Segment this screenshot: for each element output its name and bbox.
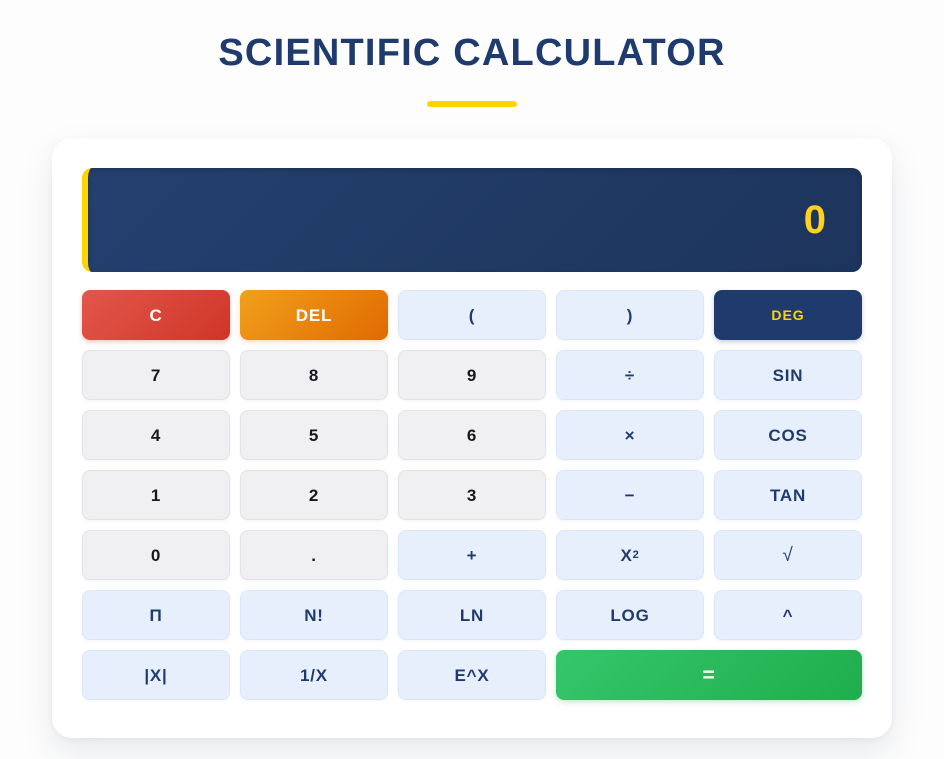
key-reciprocal[interactable]: 1/X bbox=[240, 650, 388, 700]
key-tan[interactable]: TAN bbox=[714, 470, 862, 520]
key-cos[interactable]: COS bbox=[714, 410, 862, 460]
key-square-root[interactable]: √ bbox=[714, 530, 862, 580]
calculator-display: 0 bbox=[82, 168, 862, 272]
key-divide[interactable]: ÷ bbox=[556, 350, 704, 400]
key-absolute[interactable]: |X| bbox=[82, 650, 230, 700]
key-clear[interactable]: C bbox=[82, 290, 230, 340]
key-3[interactable]: 3 bbox=[398, 470, 546, 520]
key-subtract[interactable]: − bbox=[556, 470, 704, 520]
key-natural-log[interactable]: LN bbox=[398, 590, 546, 640]
key-power[interactable]: ^ bbox=[714, 590, 862, 640]
page-header: SCIENTIFIC CALCULATOR bbox=[0, 0, 944, 107]
key-1[interactable]: 1 bbox=[82, 470, 230, 520]
key-angle-mode[interactable]: DEG bbox=[714, 290, 862, 340]
page-title: SCIENTIFIC CALCULATOR bbox=[0, 33, 944, 75]
key-log[interactable]: LOG bbox=[556, 590, 704, 640]
calculator-keypad: CDEL()DEG789÷SIN456×COS123−TAN0.+X2√ΠN!L… bbox=[82, 290, 862, 700]
key-equals[interactable]: = bbox=[556, 650, 862, 700]
key-6[interactable]: 6 bbox=[398, 410, 546, 460]
key-delete[interactable]: DEL bbox=[240, 290, 388, 340]
key-square[interactable]: X2 bbox=[556, 530, 704, 580]
key-sin[interactable]: SIN bbox=[714, 350, 862, 400]
key-5[interactable]: 5 bbox=[240, 410, 388, 460]
key-9[interactable]: 9 bbox=[398, 350, 546, 400]
key-decimal[interactable]: . bbox=[240, 530, 388, 580]
calculator-card: 0 CDEL()DEG789÷SIN456×COS123−TAN0.+X2√ΠN… bbox=[52, 138, 892, 738]
key-8[interactable]: 8 bbox=[240, 350, 388, 400]
key-0[interactable]: 0 bbox=[82, 530, 230, 580]
display-value: 0 bbox=[804, 200, 826, 240]
key-2[interactable]: 2 bbox=[240, 470, 388, 520]
key-multiply[interactable]: × bbox=[556, 410, 704, 460]
key-pi[interactable]: Π bbox=[82, 590, 230, 640]
calculator-page: SCIENTIFIC CALCULATOR 0 CDEL()DEG789÷SIN… bbox=[0, 0, 944, 759]
key-7[interactable]: 7 bbox=[82, 350, 230, 400]
key-close-paren[interactable]: ) bbox=[556, 290, 704, 340]
key-4[interactable]: 4 bbox=[82, 410, 230, 460]
title-accent-bar bbox=[427, 101, 517, 107]
key-exponential[interactable]: E^X bbox=[398, 650, 546, 700]
key-open-paren[interactable]: ( bbox=[398, 290, 546, 340]
key-add[interactable]: + bbox=[398, 530, 546, 580]
key-factorial[interactable]: N! bbox=[240, 590, 388, 640]
